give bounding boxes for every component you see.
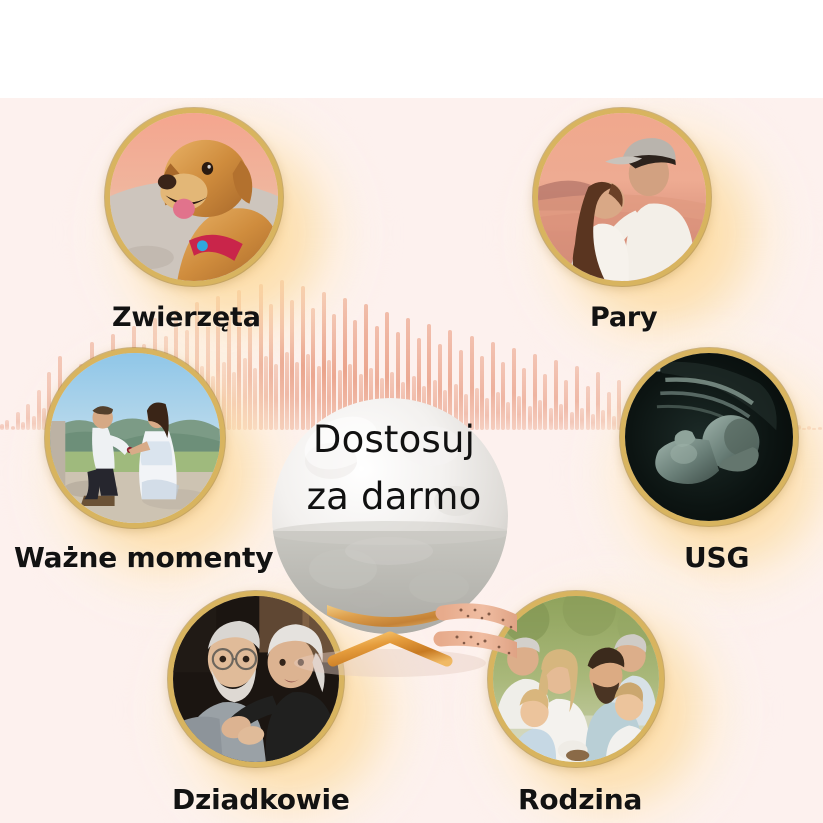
waveform-bar xyxy=(522,368,526,430)
dog-photo-icon[interactable] xyxy=(105,108,283,286)
waveform-bar xyxy=(21,422,25,430)
waveform-bar xyxy=(580,408,584,430)
waveform-bar xyxy=(612,416,616,430)
waveform-bar xyxy=(607,392,611,430)
caption-couples: Pary xyxy=(590,302,657,333)
waveform-bar xyxy=(227,316,231,430)
proposal-photo-icon[interactable] xyxy=(45,348,225,528)
waveform-bar xyxy=(37,390,41,430)
waveform-bar xyxy=(538,400,542,430)
waveform-bar xyxy=(549,408,553,430)
waveform-bar xyxy=(232,372,236,430)
waveform-bar xyxy=(570,412,574,430)
waveform-bar xyxy=(543,374,547,430)
waveform-bar xyxy=(243,358,247,430)
caption-moments: Ważne momenty xyxy=(14,541,273,574)
waveform-bar xyxy=(5,420,9,430)
waveform-bar xyxy=(802,428,806,430)
waveform-bar xyxy=(807,426,811,430)
waveform-bar xyxy=(0,424,4,430)
waveform-bar xyxy=(818,427,822,430)
waveform-bar xyxy=(554,360,558,430)
waveform-bar xyxy=(26,404,30,430)
caption-grandparents: Dziadkowie xyxy=(172,783,350,816)
waveform-bar xyxy=(575,366,579,430)
ultrasound-photo-icon[interactable] xyxy=(620,348,798,526)
waveform-bar xyxy=(16,412,20,430)
waveform-bar xyxy=(564,380,568,430)
waveform-bar xyxy=(253,368,257,430)
caption-family: Rodzina xyxy=(518,783,642,816)
poster-canvas: Zwierzęta xyxy=(0,0,823,823)
caption-pets: Zwierzęta xyxy=(112,302,261,333)
waveform-bar xyxy=(586,386,590,430)
poster-panel: Zwierzęta xyxy=(0,98,823,823)
waveform-bar xyxy=(32,416,36,430)
waveform-bar xyxy=(517,396,521,430)
waveform-bar xyxy=(591,414,595,430)
waveform-bar xyxy=(264,356,268,430)
waveform-bar xyxy=(812,428,816,430)
couple-photo-icon[interactable] xyxy=(533,108,711,286)
waveform-bar xyxy=(528,406,532,430)
caption-usg: USG xyxy=(684,541,749,574)
waveform-bar xyxy=(559,404,563,430)
waveform-bar xyxy=(11,426,15,430)
waveform-bar xyxy=(533,354,537,430)
waveform-bar xyxy=(601,410,605,430)
moon-lamp[interactable] xyxy=(271,391,517,683)
waveform-bar xyxy=(596,372,600,430)
